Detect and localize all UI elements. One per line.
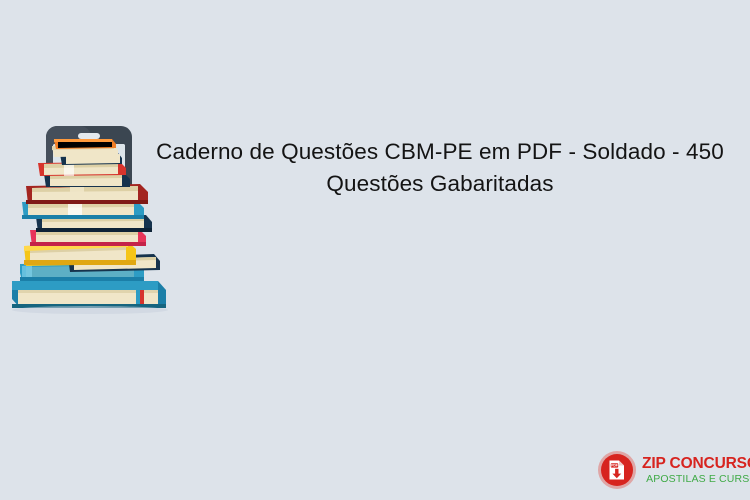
svg-text:PDF: PDF [611, 464, 618, 468]
book-crimson [30, 230, 146, 246]
book-top-orange [54, 139, 116, 149]
brand-name: ZIP CONCURSOS [642, 456, 750, 472]
product-banner: Caderno de Questões CBM-PE em PDF - Sold… [0, 0, 750, 500]
pdf-download-icon: PDF [598, 451, 636, 489]
page-title: Caderno de Questões CBM-PE em PDF - Sold… [135, 136, 745, 200]
brand-text-block: ZIP CONCURSOS APOSTILAS E CURSOS [642, 456, 750, 485]
shadow [12, 306, 168, 314]
book-bottom-teal [12, 281, 166, 308]
brand-tagline: APOSTILAS E CURSOS [642, 474, 750, 485]
brand-logo[interactable]: PDF ZIP CONCURSOS APOSTILAS E CURSOS [598, 449, 746, 491]
